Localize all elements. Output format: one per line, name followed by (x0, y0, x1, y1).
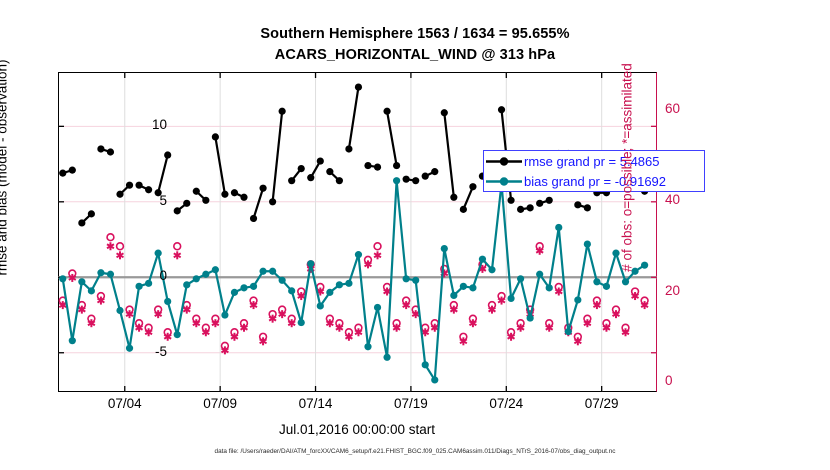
obs-possible-marker (174, 243, 181, 250)
series-point (307, 174, 314, 181)
series-point (536, 271, 543, 278)
series-point (69, 167, 76, 174)
series-point (164, 151, 171, 158)
obs-assimilated-marker (374, 251, 381, 259)
series-point (555, 224, 562, 231)
series-point (97, 145, 104, 152)
obs-assimilated-marker (174, 251, 181, 259)
series-point (126, 182, 133, 189)
legend-label-rmse: rmse grand pr = 5.4865 (524, 154, 660, 169)
series-point (174, 207, 181, 214)
obs-possible-marker (117, 243, 124, 250)
x-tick-label: 07/04 (85, 396, 165, 411)
series-point (460, 283, 467, 290)
series-segment (530, 274, 540, 318)
series-point (469, 183, 476, 190)
series-point (507, 197, 514, 204)
series-point (450, 292, 457, 299)
series-point (326, 289, 333, 296)
series-point (279, 277, 286, 284)
series-point (59, 170, 66, 177)
obs-assimilated-marker (117, 251, 124, 259)
series-point (250, 283, 257, 290)
series-point (584, 204, 591, 211)
series-point (517, 206, 524, 213)
chart-title: Southern Hemisphere 1563 / 1634 = 95.655… (0, 24, 830, 66)
series-point (498, 106, 505, 113)
series-point (174, 331, 181, 338)
series-point (527, 314, 534, 321)
series-segment (549, 227, 559, 287)
series-point (193, 188, 200, 195)
series-point (641, 262, 648, 269)
series-point (97, 269, 104, 276)
x-tick-label: 07/09 (180, 396, 260, 411)
series-segment (368, 307, 378, 346)
series-point (107, 148, 114, 155)
series-point (546, 197, 553, 204)
x-tick-label: 07/24 (466, 396, 546, 411)
series-segment (568, 300, 578, 332)
series-point (364, 343, 371, 350)
series-point (441, 245, 448, 252)
y-tick-label-left: 10 (107, 117, 167, 132)
series-segment (435, 249, 445, 380)
obs-assimilated-marker (107, 242, 114, 250)
y-axis-label-right: # of obs: o=possible; *=assimilated (620, 0, 635, 428)
series-point (269, 268, 276, 275)
series-point (183, 200, 190, 207)
series-segment (158, 155, 168, 193)
series-point (364, 162, 371, 169)
chart-legend: rmse grand pr = 5.4865 bias grand pr = -… (483, 150, 705, 192)
series-point (298, 165, 305, 172)
series-point (574, 201, 581, 208)
series-segment (492, 184, 502, 270)
series-segment (444, 113, 454, 198)
x-tick-label: 07/14 (276, 396, 356, 411)
series-point (403, 275, 410, 282)
title-line-1: Southern Hemisphere 1563 / 1634 = 95.655… (0, 24, 830, 45)
series-point (355, 251, 362, 258)
series-point (431, 168, 438, 175)
series-segment (559, 227, 569, 331)
series-point (221, 191, 228, 198)
series-point (298, 319, 305, 326)
series-segment (130, 286, 140, 348)
series-point (393, 162, 400, 169)
series-point (479, 256, 486, 263)
series-segment (463, 187, 473, 210)
series-point (336, 177, 343, 184)
series-point (612, 250, 619, 257)
series-point (155, 250, 162, 257)
series-point (450, 194, 457, 201)
series-point (374, 304, 381, 311)
series-segment (473, 259, 483, 288)
series-segment (606, 253, 616, 286)
series-point (259, 268, 266, 275)
series-point (212, 266, 219, 273)
series-segment (349, 87, 359, 149)
series-point (412, 177, 419, 184)
series-point (269, 198, 276, 205)
series-point (288, 287, 295, 294)
series-point (345, 145, 352, 152)
series-segment (578, 244, 588, 300)
y-tick-label-right: 0 (665, 373, 705, 388)
series-point (78, 278, 85, 285)
series-point (355, 83, 362, 90)
series-segment (301, 264, 311, 323)
series-point (259, 185, 266, 192)
series-point (412, 277, 419, 284)
series-point (603, 283, 610, 290)
series-point (116, 307, 123, 314)
series-point (183, 281, 190, 288)
series-segment (397, 181, 407, 279)
series-point (78, 219, 85, 226)
series-point (469, 284, 476, 291)
obs-possible-marker (107, 234, 114, 241)
series-point (88, 287, 95, 294)
series-point (135, 283, 142, 290)
series-point (307, 260, 314, 267)
series-segment (416, 280, 426, 365)
series-point (231, 189, 238, 196)
series-point (374, 163, 381, 170)
series-point (574, 296, 581, 303)
series-point (88, 210, 95, 217)
legend-label-bias: bias grand pr = -0.91692 (524, 174, 666, 189)
series-point (240, 284, 247, 291)
series-point (326, 168, 333, 175)
series-point (584, 240, 591, 247)
series-segment (273, 111, 283, 202)
series-point (403, 176, 410, 183)
series-segment (521, 279, 531, 318)
series-point (422, 173, 429, 180)
series-segment (225, 292, 235, 315)
series-point (240, 194, 247, 201)
series-point (250, 215, 257, 222)
y-tick-label-right: 20 (665, 283, 705, 298)
series-point (383, 108, 390, 115)
series-point (317, 302, 324, 309)
series-point (231, 289, 238, 296)
series-point (202, 271, 209, 278)
obs-possible-marker (374, 243, 381, 250)
series-point (441, 109, 448, 116)
series-segment (63, 279, 73, 341)
series-segment (254, 188, 264, 218)
series-point (527, 204, 534, 211)
series-point (193, 275, 200, 282)
series-point (565, 328, 572, 335)
y-tick-label-left: 5 (107, 193, 167, 208)
series-point (336, 281, 343, 288)
y-tick-label-right: 40 (665, 192, 705, 207)
legend-marker-bias (484, 171, 524, 192)
series-point (221, 311, 228, 318)
series-segment (349, 255, 359, 284)
x-tick-label: 07/29 (562, 396, 642, 411)
series-point (212, 133, 219, 140)
legend-item-bias[interactable]: bias grand pr = -0.91692 (484, 171, 666, 192)
series-segment (378, 307, 388, 357)
x-axis-label: Jul.01,2016 00:00:00 start (0, 422, 714, 437)
series-segment (387, 181, 397, 358)
y-axis-label-left: rmse and bias (model - observation) (0, 0, 10, 428)
series-point (488, 266, 495, 273)
title-line-2: ACARS_HORIZONTAL_WIND @ 313 hPa (0, 45, 830, 66)
legend-marker-rmse (484, 151, 524, 172)
series-point (517, 275, 524, 282)
series-point (345, 280, 352, 287)
chart-page: Southern Hemisphere 1563 / 1634 = 95.655… (0, 0, 830, 470)
series-point (164, 298, 171, 305)
series-segment (387, 111, 397, 165)
y-tick-label-right: 60 (665, 101, 705, 116)
series-point (546, 284, 553, 291)
series-point (59, 275, 66, 282)
series-point (202, 197, 209, 204)
series-point (317, 157, 324, 164)
y-tick-label-left: 0 (107, 268, 167, 283)
series-point (431, 376, 438, 383)
series-segment (587, 244, 597, 282)
series-point (393, 177, 400, 184)
series-point (288, 177, 295, 184)
x-tick-label: 07/19 (371, 396, 451, 411)
series-point (507, 295, 514, 302)
series-point (135, 182, 142, 189)
series-point (383, 354, 390, 361)
data-file-footer: data file: /Users/raeder/DAI/ATM_forcXX/… (0, 448, 830, 455)
series-point (593, 278, 600, 285)
series-point (460, 206, 467, 213)
series-point (279, 108, 286, 115)
series-point (69, 337, 76, 344)
series-point (536, 200, 543, 207)
series-point (422, 361, 429, 368)
y-tick-label-left: -5 (107, 344, 167, 359)
